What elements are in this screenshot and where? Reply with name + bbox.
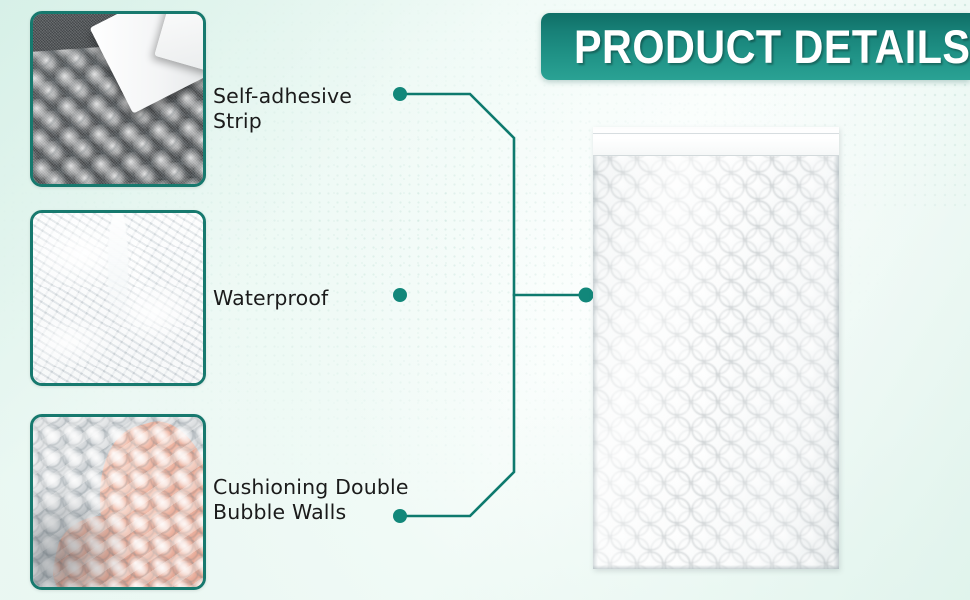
bag-right-edge [833,127,839,569]
connector-dot-cushioning [393,509,407,523]
bag-adhesive-flap [593,127,839,156]
bag-left-edge [593,127,598,569]
product-image-bubble-mailer [593,127,839,569]
bubble-texture-offset [593,156,839,569]
bag-bubble-body [593,156,839,569]
bag-flap-fold-line [593,133,839,134]
connector-dot-product [579,288,594,303]
connector-trunk-path [402,94,514,516]
connector-dot-self-adhesive-strip [393,87,407,101]
bag-bottom-edge [593,565,839,569]
connector-dot-waterproof [393,288,407,302]
